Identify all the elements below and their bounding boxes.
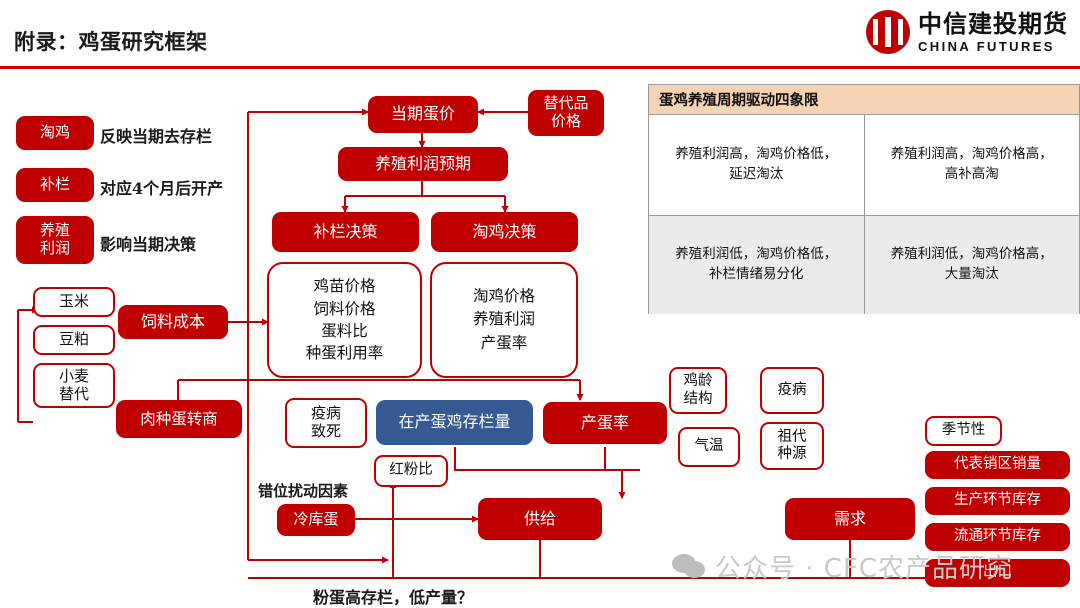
node-ancestor-breed[interactable]: 祖代 种源: [760, 422, 824, 470]
node-age-structure[interactable]: 鸡龄 结构: [669, 367, 727, 414]
node-laying-hen-stock-label: 在产蛋鸡存栏量: [398, 413, 510, 432]
node-profit-expectation-label: 养殖利润预期: [375, 155, 471, 174]
quadrant-table: 蛋鸡养殖周期驱动四象限 养殖利润高，淘鸡价格低， 延迟淘汰 养殖利润高，淘鸡价格…: [648, 84, 1080, 314]
quadrant-row-top: 养殖利润高，淘鸡价格低， 延迟淘汰 养殖利润高，淘鸡价格高， 高补高淘: [649, 115, 1079, 215]
quadrant-cell-q1: 养殖利润高，淘鸡价格低， 延迟淘汰: [649, 115, 865, 215]
node-laying-rate[interactable]: 产蛋率: [543, 402, 667, 444]
node-substitute-price[interactable]: 替代品 价格: [528, 90, 604, 136]
label-bottom-question: 粉蛋高存栏，低产量？: [313, 584, 473, 608]
node-feed-cost[interactable]: 饲料成本: [118, 305, 228, 339]
node-export-label: 出口: [983, 564, 1012, 581]
node-cull-decision[interactable]: 淘鸡决策: [431, 212, 578, 252]
node-soybean-meal[interactable]: 豆粕: [33, 325, 115, 355]
node-current-egg-price-label: 当期蛋价: [391, 105, 455, 124]
node-disease-death[interactable]: 疫病 致死: [285, 398, 367, 448]
node-corn-label: 玉米: [59, 293, 89, 311]
node-cold-storage-egg-label: 冷库蛋: [293, 511, 338, 529]
node-current-egg-price[interactable]: 当期蛋价: [368, 96, 478, 133]
node-red-pink-ratio-label: 红粉比: [389, 462, 433, 479]
node-demand-label: 需求: [834, 510, 866, 529]
node-rep-region-sales-label: 代表销区销量: [954, 456, 1041, 473]
legend-tag-profit: 养殖 利润: [16, 216, 94, 264]
node-production-inventory[interactable]: 生产环节库存: [925, 487, 1070, 515]
slide-canvas: 附录：鸡蛋研究框架 中信建投期货 CHINA FUTURES: [0, 0, 1080, 608]
node-supply[interactable]: 供给: [478, 498, 602, 540]
node-laying-rate-label: 产蛋率: [581, 414, 629, 433]
node-demand[interactable]: 需求: [785, 498, 915, 540]
quadrant-row-bottom: 养殖利润低，淘鸡价格低， 补栏情绪易分化 养殖利润低，淘鸡价格高， 大量淘汰: [649, 215, 1079, 314]
node-production-inventory-label: 生产环节库存: [954, 492, 1041, 509]
node-disease[interactable]: 疫病: [760, 367, 824, 414]
legend-tag-restock: 补栏: [16, 168, 94, 202]
node-breeder-egg-to-commercial-label: 肉种蛋转商: [140, 410, 218, 428]
node-corn[interactable]: 玉米: [33, 287, 115, 317]
node-rep-region-sales[interactable]: 代表销区销量: [925, 451, 1070, 479]
node-wheat-substitute[interactable]: 小麦 替代: [33, 363, 115, 408]
legend-tag-cull: 淘鸡: [16, 116, 94, 150]
node-age-structure-label: 鸡龄 结构: [684, 373, 713, 407]
node-seasonality[interactable]: 季节性: [925, 416, 1002, 446]
node-disease-death-label: 疫病 致死: [311, 405, 341, 440]
quadrant-cell-q4: 养殖利润低，淘鸡价格高， 大量淘汰: [865, 216, 1080, 314]
node-red-pink-ratio[interactable]: 红粉比: [374, 455, 448, 487]
node-circulation-inventory[interactable]: 流通环节库存: [925, 523, 1070, 551]
legend-tag-cull-label: 淘鸡: [40, 124, 70, 142]
node-temperature[interactable]: 气温: [678, 427, 740, 467]
node-breeder-egg-to-commercial[interactable]: 肉种蛋转商: [116, 400, 242, 438]
node-cull-decision-label: 淘鸡决策: [472, 223, 536, 242]
node-disease-label: 疫病: [778, 382, 807, 399]
node-temperature-label: 气温: [695, 438, 724, 455]
legend-tag-profit-label: 养殖 利润: [40, 222, 70, 257]
legend-tag-restock-label: 补栏: [40, 176, 70, 194]
node-ancestor-breed-label: 祖代 种源: [778, 429, 807, 463]
node-restock-factors[interactable]: 鸡苗价格 饲料价格 蛋料比 种蛋利用率: [267, 262, 422, 378]
node-seasonality-label: 季节性: [942, 422, 986, 439]
node-restock-factors-label: 鸡苗价格 饲料价格 蛋料比 种蛋利用率: [306, 275, 384, 365]
quadrant-cell-q3: 养殖利润低，淘鸡价格低， 补栏情绪易分化: [649, 216, 865, 314]
node-cold-storage-egg[interactable]: 冷库蛋: [277, 504, 355, 536]
node-profit-expectation[interactable]: 养殖利润预期: [338, 147, 508, 181]
quadrant-cell-q2: 养殖利润高，淘鸡价格高， 高补高淘: [865, 115, 1080, 215]
legend-desc-profit: 影响当期决策: [100, 231, 196, 255]
node-circulation-inventory-label: 流通环节库存: [954, 528, 1041, 545]
legend-desc-cull: 反映当期去存栏: [100, 123, 212, 147]
node-restock-decision[interactable]: 补栏决策: [272, 212, 419, 252]
node-cull-factors[interactable]: 淘鸡价格 养殖利润 产蛋率: [430, 262, 578, 378]
node-substitute-price-label: 替代品 价格: [543, 95, 588, 130]
node-export[interactable]: 出口: [925, 559, 1070, 587]
label-dislocation-factors: 错位扰动因素: [258, 480, 348, 501]
node-wheat-substitute-label: 小麦 替代: [59, 368, 89, 403]
node-feed-cost-label: 饲料成本: [141, 313, 205, 332]
quadrant-title: 蛋鸡养殖周期驱动四象限: [649, 85, 1079, 115]
node-soybean-meal-label: 豆粕: [59, 331, 89, 349]
node-laying-hen-stock[interactable]: 在产蛋鸡存栏量: [376, 400, 533, 445]
legend-desc-restock: 对应4个月后开产: [100, 175, 223, 199]
node-restock-decision-label: 补栏决策: [313, 223, 377, 242]
node-cull-factors-label: 淘鸡价格 养殖利润 产蛋率: [473, 285, 535, 355]
node-supply-label: 供给: [524, 510, 556, 529]
